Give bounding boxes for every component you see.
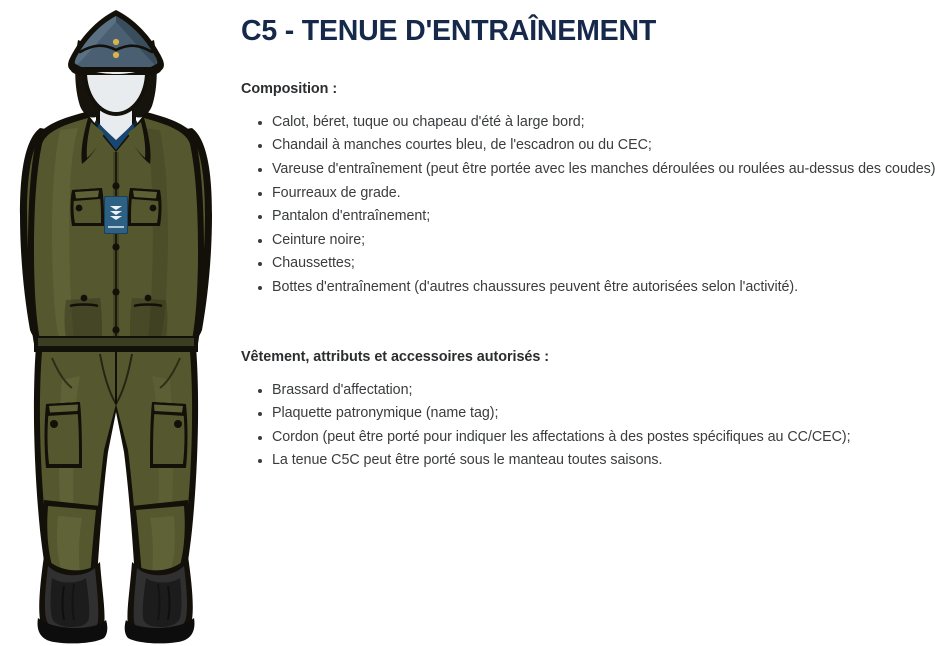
section-heading-accessoires: Vêtement, attributs et accessoires autor… [241, 347, 935, 367]
jacket-lower-button-right [145, 295, 152, 302]
composition-list: Calot, béret, tuque ou chapeau d'été à l… [241, 111, 935, 300]
cap-button-lower [113, 52, 119, 58]
page-title: C5 - TENUE D'ENTRAÎNEMENT [241, 14, 935, 50]
cap-calot [68, 10, 164, 75]
cargo-pocket-right [150, 402, 188, 468]
jacket-breast-button-right [150, 205, 157, 212]
list-item: Plaquette patronymique (name tag); [272, 402, 935, 426]
list-item: Ceinture noire; [272, 229, 935, 253]
uniform-description: C5 - TENUE D'ENTRAÎNEMENT Composition : … [232, 0, 935, 646]
list-item: Fourreaux de grade. [272, 182, 935, 206]
accessoires-list: Brassard d'affectation; Plaquette patron… [241, 379, 935, 473]
list-item: Pantalon d'entraînement; [272, 205, 935, 229]
section-heading-composition: Composition : [241, 79, 935, 99]
list-item: Chaussettes; [272, 252, 935, 276]
list-item: Calot, béret, tuque ou chapeau d'été à l… [272, 111, 935, 135]
uniform-illustration [0, 0, 232, 646]
jacket-lower-button-left [81, 295, 88, 302]
list-item: La tenue C5C peut être porté sous le man… [272, 449, 935, 473]
jacket-button-1 [112, 182, 119, 189]
section-spacer [241, 300, 935, 347]
list-item: Vareuse d'entraînement (peut être portée… [272, 158, 935, 182]
cadet-figure-svg [0, 0, 232, 646]
cargo-pocket-left [45, 402, 83, 468]
list-item: Brassard d'affectation; [272, 379, 935, 403]
uniform-reference-page: C5 - TENUE D'ENTRAÎNEMENT Composition : … [0, 0, 935, 646]
jacket-button-4 [112, 326, 119, 333]
jacket-vareuse [28, 112, 204, 344]
jacket-button-2 [112, 243, 119, 250]
trousers-pantalon [34, 336, 198, 596]
list-item: Bottes d'entraînement (d'autres chaussur… [272, 276, 935, 300]
jacket-button-3 [112, 288, 119, 295]
list-item: Chandail à manches courtes bleu, de l'es… [272, 134, 935, 158]
jacket-breast-button-left [76, 205, 83, 212]
rank-slip-fourreau [104, 196, 128, 234]
list-item: Cordon (peut être porté pour indiquer le… [272, 426, 935, 450]
boots-bottes [38, 556, 195, 643]
cap-button-upper [113, 39, 119, 45]
